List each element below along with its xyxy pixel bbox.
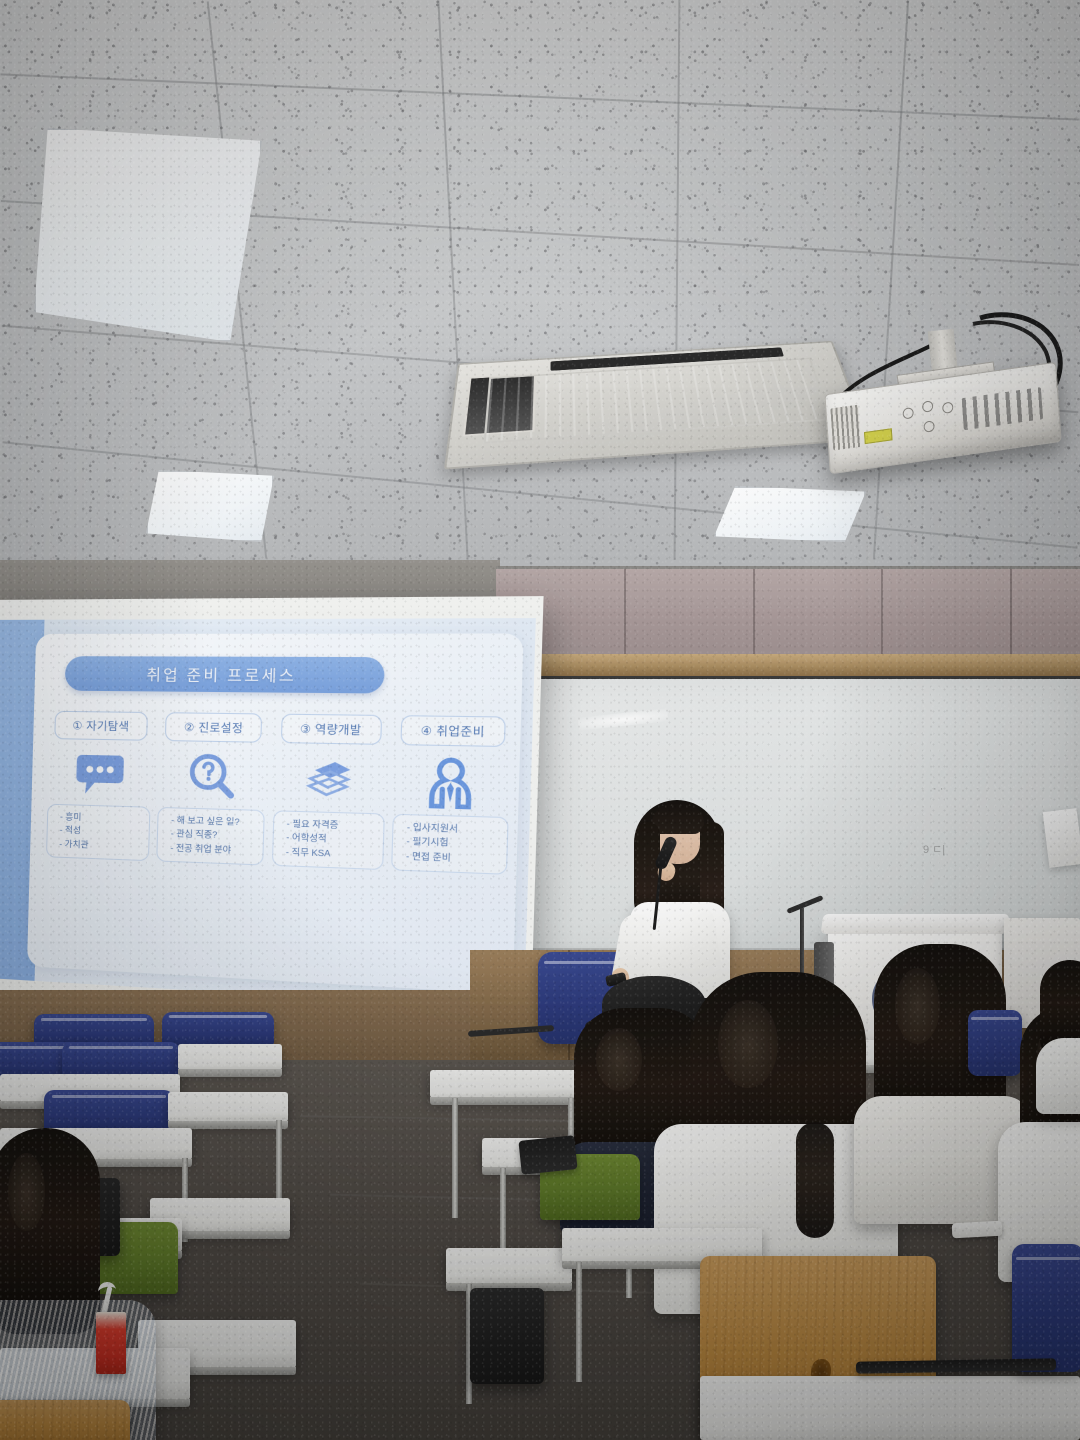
slide-title-banner: 취업 준비 프로세스: [65, 656, 385, 693]
classroom-photo: · · 9 ㄷ| · · 취업 준비 프로세스 ① 자기탐색: [0, 0, 1080, 1440]
list-item: - 가치관: [51, 837, 144, 854]
acoustic-wall-panels: [496, 566, 1080, 657]
list-item: - 직무 KSA: [277, 845, 378, 863]
books-icon: [303, 752, 355, 808]
slide-column-number: ①: [72, 719, 83, 732]
torso: [1036, 1038, 1080, 1114]
wooden-chair: [0, 1400, 130, 1440]
projector-button-icon: [902, 407, 914, 420]
list-item: - 면접 준비: [397, 849, 502, 867]
desk: [168, 1092, 288, 1122]
slide-column-heading: ① 자기탐색: [54, 711, 148, 741]
projector-vent-icon: [830, 405, 861, 451]
slide-column-number: ②: [184, 720, 195, 734]
slide-column-number: ③: [300, 722, 312, 736]
student-far-right: [1040, 960, 1080, 1100]
slide-column: ③ 역량개발 - 필요 자격증 - 어학성적 -: [271, 714, 385, 961]
slide-column-list: - 흥미 - 적성 - 가치관: [46, 804, 151, 861]
hair-fringe: [652, 804, 704, 834]
lectern-mic-stand: [800, 908, 804, 974]
projector-button-icon: [923, 420, 935, 433]
slide-column: ② 진로설정 - 해 보고 싶은 일? -: [156, 712, 266, 954]
smartphone[interactable]: [952, 1221, 1003, 1239]
lectern-top: [821, 914, 1010, 934]
person-tie-icon: [426, 754, 476, 811]
speech-bubble-icon: [74, 748, 124, 802]
slide-column-heading: ② 진로설정: [165, 712, 263, 743]
slide-columns: ① 자기탐색 - 흥미 - 적성: [46, 711, 510, 968]
ceiling-light-panel: [34, 128, 262, 342]
slide-column-number: ④: [421, 723, 433, 737]
ac-grille: [483, 358, 832, 444]
paper-on-board: [1043, 808, 1080, 868]
blue-chair: [162, 1012, 274, 1046]
ceiling-light-panel: [146, 470, 274, 542]
desk: [446, 1248, 572, 1284]
slide-card: 취업 준비 프로세스 ① 자기탐색: [27, 633, 524, 994]
slide-title: 취업 준비 프로세스: [146, 663, 296, 686]
list-item: - 전공 취업 분야: [162, 841, 259, 858]
hair-strand: [796, 1122, 834, 1238]
slide-column-title: 취업준비: [436, 722, 485, 740]
slide-column-heading: ④ 취업준비: [400, 715, 506, 747]
tablet[interactable]: [518, 1135, 577, 1175]
slide-column-title: 진로설정: [198, 719, 243, 736]
slide-column-title: 자기탐색: [86, 717, 130, 734]
student-striped-shirt: [0, 1128, 150, 1440]
slide-column-title: 역량개발: [315, 720, 362, 738]
whiteboard-glare: [578, 708, 669, 730]
projection-screen: 취업 준비 프로세스 ① 자기탐색: [0, 596, 544, 1035]
backpack: [470, 1288, 544, 1384]
wall-wood-rail: [496, 654, 1080, 676]
slide-column-list: - 필요 자격증 - 어학성적 - 직무 KSA: [271, 810, 384, 870]
projector-button-icon: [922, 400, 934, 413]
slide-column: ④ 취업준비 - 입사지원서 - 필기시험 - 면: [391, 715, 510, 967]
ceiling-light-panel: [714, 486, 866, 542]
slide-column-list: - 해 보고 싶은 일? - 관심 직종? - 전공 취업 분야: [156, 807, 265, 866]
desk: [700, 1376, 1080, 1440]
blue-chair: [1012, 1244, 1080, 1372]
projector-port-panel: [962, 387, 1043, 430]
slide-surface: 취업 준비 프로세스 ① 자기탐색: [0, 618, 536, 1010]
juice-carton: [96, 1312, 126, 1374]
projector-label-sticker: [864, 428, 893, 444]
slide-column: ① 자기탐색 - 흥미 - 적성: [46, 711, 152, 949]
projector-button-icon: [942, 401, 954, 414]
magnifier-question-icon: [187, 750, 237, 805]
desk: [178, 1044, 282, 1070]
slide-column-heading: ③ 역량개발: [280, 714, 382, 745]
slide-column-list: - 입사지원서 - 필기시험 - 면접 준비: [391, 814, 509, 875]
